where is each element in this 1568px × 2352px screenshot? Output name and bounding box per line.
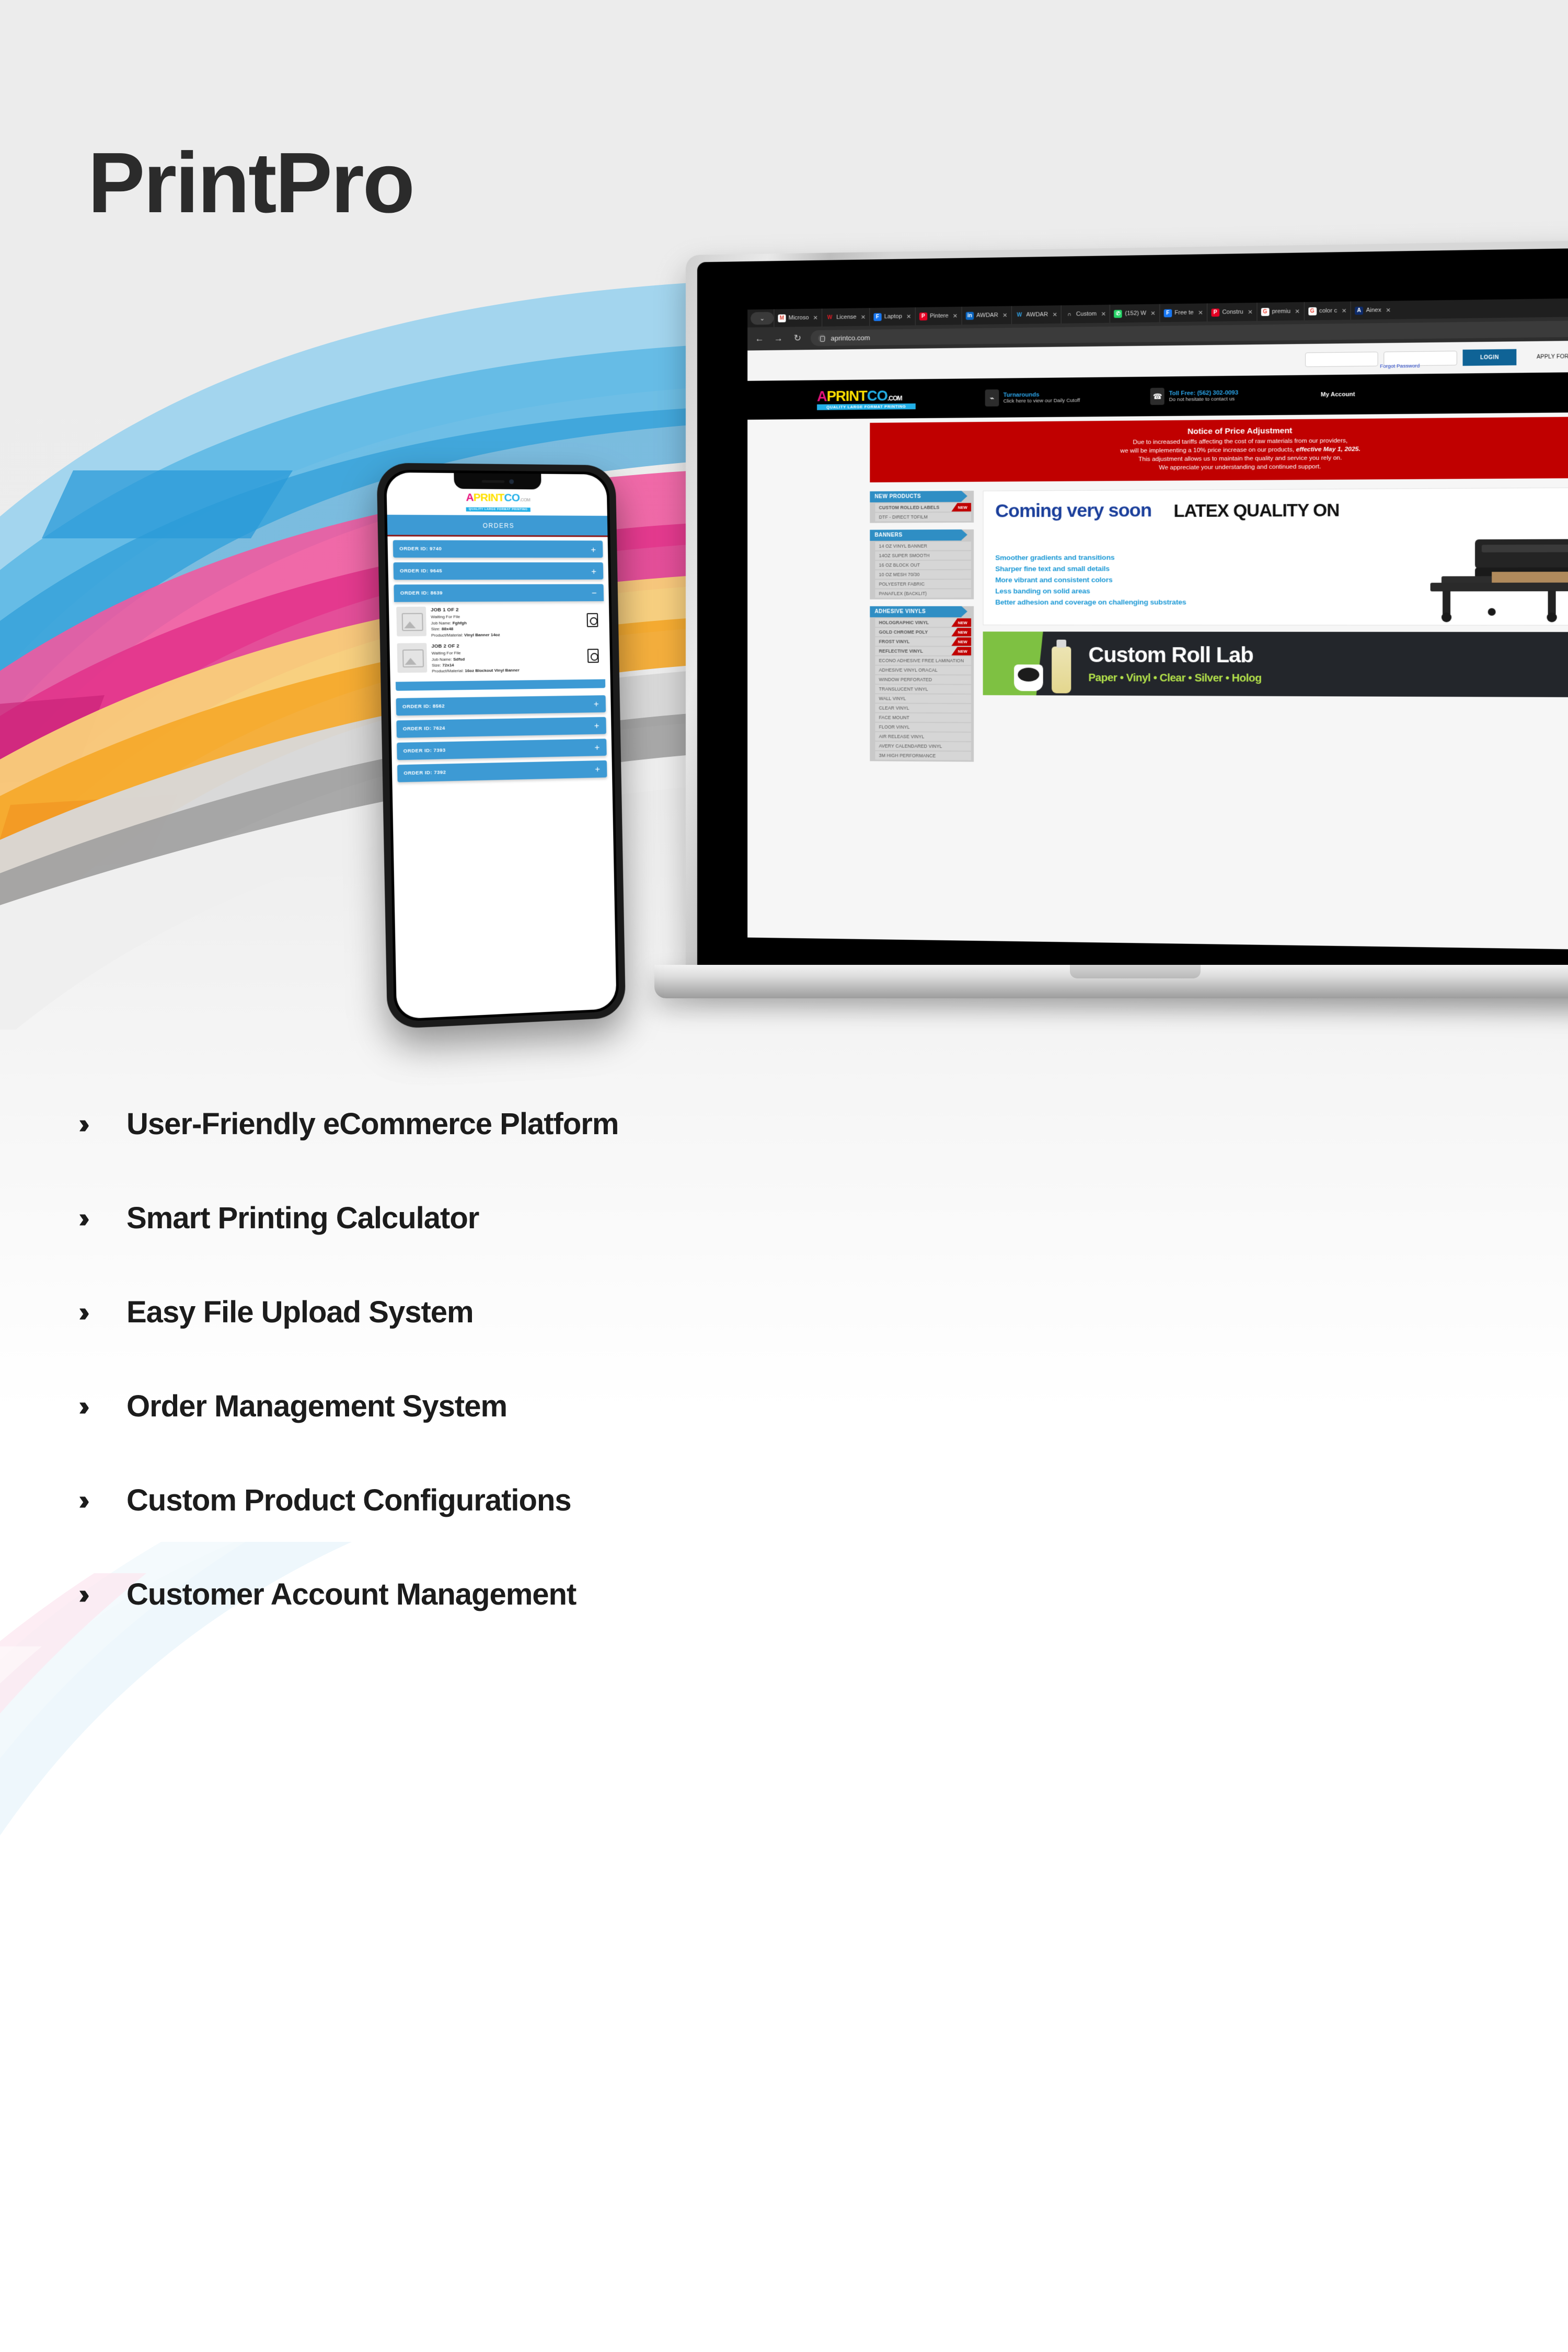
browser-tab-10[interactable]: Gpremiu✕ <box>1256 302 1304 321</box>
sidebar-item-label: 14 OZ VINYL BANNER <box>879 544 927 549</box>
job-item: JOB 1 OF 2Waiting For FileJob Name: Fghf… <box>396 606 601 638</box>
promo-bullet: Less banding on solid areas <box>995 586 1186 597</box>
sidebar-item-label: GOLD CHROME POLY <box>879 629 928 635</box>
sidebar-item-label: WALL VINYL <box>879 696 906 701</box>
truck-icon: ⌁ <box>985 389 999 407</box>
page-title: PrintPro <box>88 140 413 226</box>
job-name-label: Job Name: <box>432 657 452 662</box>
sidebar-item-label: AVERY CALENDARED VINYL <box>879 743 942 749</box>
job-size-row: Size: 88x48 <box>431 626 500 632</box>
logo-dotcom: .COM <box>887 394 902 401</box>
double-chevron-right-icon: ›› <box>78 1580 108 1608</box>
sidebar-item[interactable]: 10 OZ MESH 70/30 <box>875 570 971 579</box>
tollfree-sub: Do not hesitate to contact us <box>1169 396 1238 402</box>
tab-close-icon[interactable]: ✕ <box>1295 308 1300 315</box>
sidebar-item-label: CUSTOM ROLLED LABELS <box>879 505 940 511</box>
order-row[interactable]: ORDER ID: 8562+ <box>396 695 606 716</box>
order-row[interactable]: ORDER ID: 9645+ <box>394 562 604 580</box>
preview-document-icon[interactable] <box>587 649 599 663</box>
sidebar-item[interactable]: REFLECTIVE VINYLNEW <box>875 647 971 655</box>
coffee-cup-graphic <box>1014 664 1043 691</box>
phone-body: APRINTCO.COM QUALITY LARGE FORMAT PRINTI… <box>376 463 626 1029</box>
preview-document-icon[interactable] <box>587 613 598 627</box>
feature-label: Custom Product Configurations <box>126 1483 571 1518</box>
order-row[interactable]: ORDER ID: 8639− <box>394 584 604 602</box>
sidebar-item-label: DTF - DIRECT TOFILM <box>879 514 928 520</box>
sidebar-group-title: BANNERS <box>870 529 961 541</box>
sidebar-item[interactable]: 14 OZ VINYL BANNER <box>875 541 971 550</box>
tollfree-title: Toll Free: (562) 302-0093 <box>1169 389 1238 397</box>
feature-list: ››User-Friendly eCommerce Platform››Smar… <box>78 1077 1176 1641</box>
sidebar-item[interactable]: WALL VINYL <box>875 694 971 703</box>
double-chevron-right-icon: ›› <box>78 1486 108 1514</box>
feature-item-4: ››Custom Product Configurations <box>78 1453 1176 1547</box>
tab-label: premiu <box>1272 308 1290 315</box>
feature-label: User-Friendly eCommerce Platform <box>126 1106 618 1142</box>
browser-tab-5[interactable]: WAWDAR✕ <box>1011 305 1062 324</box>
job-thumbnail-image-icon <box>396 607 426 637</box>
sidebar-item-label: FACE MOUNT <box>879 715 909 720</box>
sidebar-item-label: WINDOW PERFORATED <box>879 677 932 682</box>
order-id-label: ORDER ID: 9740 <box>399 546 442 552</box>
job-size-value: 88x48 <box>442 627 454 631</box>
job-name-row: Job Name: Fghfgh <box>431 620 500 626</box>
sidebar-item[interactable]: FROST VINYLNEW <box>875 637 971 645</box>
tab-close-icon[interactable]: ✕ <box>813 314 818 321</box>
tab-list-icon[interactable]: ⌄ <box>751 312 774 325</box>
feature-label: Smart Printing Calculator <box>126 1201 479 1236</box>
notice-line-2a: we will be implementing a 10% price incr… <box>1120 446 1296 454</box>
order-row[interactable]: ORDER ID: 7393+ <box>397 739 607 760</box>
browser-tab-7[interactable]: ✆(152) W✕ <box>1110 304 1159 323</box>
tab-label: AWDAR <box>1026 312 1048 318</box>
site-settings-icon[interactable] <box>818 334 826 342</box>
tab-favicon-icon: G <box>1308 307 1317 315</box>
phone-inner-frame: APRINTCO.COM QUALITY LARGE FORMAT PRINTI… <box>384 470 619 1022</box>
job-size-label: Size: <box>432 663 441 667</box>
feature-label: Customer Account Management <box>126 1577 576 1612</box>
laptop-lid: ⌄ MMicroso✕WLicense✕FLaptop✕PPintere✕inA… <box>686 240 1568 991</box>
tab-favicon-icon: P <box>919 312 927 320</box>
tab-label: AWDAR <box>976 312 998 319</box>
feature-label: Order Management System <box>126 1389 507 1424</box>
sidebar-item-label: CLEAR VINYL <box>879 705 909 710</box>
order-id-label: ORDER ID: 9645 <box>400 568 442 574</box>
sidebar-item[interactable]: PANAFLEX (BACKLIT) <box>875 589 971 597</box>
sidebar-item[interactable]: CLEAR VINYL <box>875 704 971 712</box>
laptop-base-notch <box>1070 965 1201 978</box>
new-badge: NEW <box>951 618 971 627</box>
sidebar-group-title: NEW PRODUCTS <box>870 491 961 502</box>
promo-bullet: Better adhesion and coverage on challeng… <box>995 597 1186 608</box>
double-chevron-right-icon: ›› <box>78 1110 108 1138</box>
tab-close-icon[interactable]: ✕ <box>1002 312 1007 318</box>
expand-icon[interactable]: + <box>594 699 599 708</box>
promo-heading-blue: Coming very soon <box>995 500 1151 522</box>
tab-label: Pintere <box>930 313 949 319</box>
phone-logo-co: CO <box>504 492 520 504</box>
job-product-row: Product/Material: Vinyl Banner 14oz <box>431 632 500 638</box>
orders-list: ORDER ID: 9740+ORDER ID: 9645+ORDER ID: … <box>387 536 612 782</box>
tab-label: Laptop <box>884 313 902 320</box>
sidebar-item[interactable]: 3M HIGH PERFORMANCE <box>875 751 971 760</box>
browser-tab-1[interactable]: WLicense✕ <box>822 308 869 326</box>
url-text: aprintco.com <box>831 333 870 342</box>
order-id-label: ORDER ID: 7392 <box>403 769 446 776</box>
sidebar-item-label: 3M HIGH PERFORMANCE <box>879 753 936 758</box>
sidebar-item[interactable]: FACE MOUNT <box>875 713 971 722</box>
laptop-bezel: ⌄ MMicroso✕WLicense✕FLaptop✕PPintere✕inA… <box>697 248 1568 983</box>
job-size-value: 72x14 <box>442 663 454 667</box>
site-logo[interactable]: APRINTCO.COM QUALITY LARGE FORMAT PRINTI… <box>817 388 916 410</box>
tab-close-icon[interactable]: ✕ <box>1248 308 1253 315</box>
expand-icon[interactable]: + <box>591 567 596 575</box>
sidebar-item[interactable]: ECONO ADHESIVE FREE LAMINATION <box>875 656 971 665</box>
promo-heading-black: LATEX QUALITY ON <box>1173 500 1339 521</box>
apply-for-account-link[interactable]: APPLY FOR AN ACCOUNT <box>1537 353 1568 360</box>
sidebar-group-2: ADHESIVE VINYLSHOLOGRAPHIC VINYLNEWGOLD … <box>870 606 974 762</box>
printer-illustration <box>1408 536 1568 626</box>
logo-word-print: PRINT <box>827 388 867 404</box>
feature-item-1: ››Smart Printing Calculator <box>78 1171 1176 1265</box>
sidebar-item-label: 10 OZ MESH 70/30 <box>879 572 920 577</box>
sidebar-item[interactable]: ADHESIVE VINYL ORACAL <box>875 666 971 675</box>
job-name-value: Fghfgh <box>453 620 467 625</box>
sidebar-item-label: ADHESIVE VINYL ORACAL <box>879 667 938 673</box>
sidebar-item-label: ECONO ADHESIVE FREE LAMINATION <box>879 658 964 663</box>
sidebar-item[interactable]: FLOOR VINYL <box>875 723 971 732</box>
job-product-row: Product/Material: 16oz Blockout Vinyl Ba… <box>432 667 520 674</box>
reload-icon[interactable]: ↻ <box>792 333 803 343</box>
job-name-label: Job Name: <box>431 620 451 625</box>
order-row[interactable]: ORDER ID: 9740+ <box>393 540 603 558</box>
feature-label: Easy File Upload System <box>126 1295 474 1330</box>
order-id-label: ORDER ID: 8562 <box>402 703 445 709</box>
sidebar-item-label: 16 OZ BLOCK OUT <box>879 562 920 568</box>
tab-close-icon[interactable]: ✕ <box>953 313 958 319</box>
price-notice-banner: Notice of Price Adjustment Due to increa… <box>870 417 1568 483</box>
order-id-label: ORDER ID: 7624 <box>403 725 445 732</box>
promo-bullet: Sharper fine text and small details <box>995 563 1186 575</box>
job-name-value: Sdfsd <box>453 656 465 661</box>
new-badge: NEW <box>951 628 971 636</box>
phone-icon: ☎ <box>1150 388 1165 405</box>
tab-favicon-icon: ∩ <box>1065 310 1073 318</box>
new-badge: NEW <box>951 637 971 645</box>
job-size-label: Size: <box>431 627 441 631</box>
tab-favicon-icon: F <box>873 313 881 320</box>
roll-label-subtitle: Paper • Vinyl • Clear • Silver • Holog <box>1088 672 1261 685</box>
site-body: Notice of Price Adjustment Due to increa… <box>747 412 1568 950</box>
order-job-panel: JOB 1 OF 2Waiting For FileJob Name: Fghf… <box>394 601 605 682</box>
job-item: JOB 2 OF 2Waiting For FileJob Name: Sdfs… <box>397 641 602 675</box>
product-sidebar: NEW PRODUCTSCUSTOM ROLLED LABELSNEWDTF -… <box>870 491 974 769</box>
job-status: Waiting For File <box>431 614 500 620</box>
turnarounds-sub: Click here to view our Daily Cutoff <box>1004 397 1080 404</box>
browser-tab-3[interactable]: PPintere✕ <box>915 307 962 326</box>
tab-label: Ainex <box>1366 307 1381 314</box>
sidebar-item-label: HOLOGRAPHIC VINYL <box>879 620 929 625</box>
sidebar-group-1: BANNERS14 OZ VINYL BANNER14OZ SUPER SMOO… <box>870 529 974 599</box>
login-button[interactable]: LOGIN <box>1463 349 1517 366</box>
tab-label: Constru <box>1222 309 1243 316</box>
sidebar-item[interactable]: GOLD CHROME POLYNEW <box>875 628 971 636</box>
tab-favicon-icon: ✆ <box>1114 309 1123 317</box>
orders-header: ORDERS <box>387 515 608 537</box>
sidebar-item[interactable]: WINDOW PERFORATED <box>875 675 971 684</box>
sidebar-item-label: POLYESTER FABRIC <box>879 581 925 586</box>
order-id-label: ORDER ID: 8639 <box>400 590 443 596</box>
decorative-swoosh-pastel <box>0 1542 805 2352</box>
tab-close-icon[interactable]: ✕ <box>1198 309 1203 316</box>
tab-close-icon[interactable]: ✕ <box>906 313 911 320</box>
feature-item-0: ››User-Friendly eCommerce Platform <box>78 1077 1176 1171</box>
phone-logo-a: A <box>466 491 474 503</box>
laptop-mockup: ⌄ MMicroso✕WLicense✕FLaptop✕PPintere✕inA… <box>686 255 1568 997</box>
sidebar-item[interactable]: HOLOGRAPHIC VINYLNEW <box>875 618 971 627</box>
browser-tab-6[interactable]: ∩Custom✕ <box>1061 305 1110 324</box>
tab-label: color c <box>1319 307 1337 314</box>
sidebar-item[interactable]: 14OZ SUPER SMOOTH <box>875 551 971 560</box>
poster-root: PrintPro ⌄ MMicroso✕WLicense✕FLaptop✕PPi… <box>0 0 1568 2352</box>
sidebar-item-label: FROST VINYL <box>879 639 910 644</box>
browser-tab-2[interactable]: FLaptop✕ <box>869 307 915 326</box>
phone-notch <box>454 473 541 489</box>
tab-favicon-icon: W <box>826 314 834 321</box>
tab-label: Free te <box>1174 309 1193 316</box>
phone-mockup: APRINTCO.COM QUALITY LARGE FORMAT PRINTI… <box>376 463 626 1029</box>
back-icon[interactable]: ← <box>754 333 765 344</box>
sidebar-item-label: 14OZ SUPER SMOOTH <box>879 553 930 558</box>
browser-tab-12[interactable]: AAinex✕ <box>1351 301 1395 320</box>
tab-close-icon[interactable]: ✕ <box>1342 307 1347 315</box>
tab-close-icon[interactable]: ✕ <box>1386 306 1391 314</box>
tab-close-icon[interactable]: ✕ <box>1101 310 1106 317</box>
order-row[interactable]: ORDER ID: 7392+ <box>397 760 607 782</box>
tab-favicon-icon: M <box>778 314 786 322</box>
browser-tab-9[interactable]: PConstru✕ <box>1207 303 1256 321</box>
tab-label: Custom <box>1076 311 1097 318</box>
double-chevron-right-icon: ›› <box>78 1298 108 1326</box>
browser-tab-4[interactable]: inAWDAR✕ <box>961 306 1011 325</box>
header-link-turnarounds[interactable]: ⌁ Turnarounds Click here to view our Dai… <box>985 388 1080 406</box>
job-product-value: Vinyl Banner 14oz <box>464 632 500 638</box>
expand-icon[interactable]: + <box>594 743 599 752</box>
promo-bullet: Smoother gradients and transitions <box>995 552 1186 563</box>
bottle-graphic <box>1052 647 1071 694</box>
job-product-label: Product/Material: <box>431 632 463 638</box>
username-input[interactable] <box>1305 351 1378 366</box>
feature-item-3: ››Order Management System <box>78 1359 1176 1453</box>
logo-tagline: QUALITY LARGE FORMAT PRINTING <box>817 403 916 410</box>
logo-word-co: CO <box>867 388 887 404</box>
laptop-screen: ⌄ MMicroso✕WLicense✕FLaptop✕PPintere✕inA… <box>747 298 1568 950</box>
sidebar-item[interactable]: 16 OZ BLOCK OUT <box>875 561 971 570</box>
sidebar-item[interactable]: AIR RELEASE VINYL <box>875 732 971 741</box>
new-badge: NEW <box>951 647 971 655</box>
tab-close-icon[interactable]: ✕ <box>1150 309 1156 316</box>
tab-favicon-icon: in <box>966 312 974 319</box>
notice-line-2b: effective May 1, 2025. <box>1296 446 1361 453</box>
logo-letter-a: A <box>817 388 827 404</box>
order-id-label: ORDER ID: 7393 <box>403 747 446 754</box>
browser-tab-11[interactable]: Gcolor c✕ <box>1304 302 1350 320</box>
phone-screen: APRINTCO.COM QUALITY LARGE FORMAT PRINTI… <box>386 472 617 1019</box>
tab-close-icon[interactable]: ✕ <box>1052 311 1057 318</box>
double-chevron-right-icon: ›› <box>78 1392 108 1420</box>
header-link-phone[interactable]: ☎ Toll Free: (562) 302-0093 Do not hesit… <box>1150 387 1238 405</box>
forward-icon[interactable]: → <box>773 333 784 344</box>
tab-favicon-icon: W <box>1016 311 1023 319</box>
phone-logo-print: PRINT <box>474 491 504 503</box>
double-chevron-right-icon: ›› <box>78 1204 108 1232</box>
forgot-password-link[interactable]: Forgot Password <box>1380 363 1420 370</box>
sidebar-item[interactable]: TRANSLUCENT VINYL <box>875 685 971 694</box>
sidebar-item[interactable]: CUSTOM ROLLED LABELSNEW <box>875 503 971 512</box>
tab-favicon-icon: F <box>1164 309 1172 317</box>
sidebar-item-label: REFLECTIVE VINYL <box>879 649 923 654</box>
expand-icon[interactable]: + <box>591 545 596 554</box>
phone-logo-dotcom: .COM <box>520 497 530 502</box>
phone-logo-tagline: QUALITY LARGE FORMAT PRINTING <box>466 508 531 512</box>
sidebar-item[interactable]: AVERY CALENDARED VINYL <box>875 742 971 751</box>
tab-label: Microso <box>789 315 809 321</box>
tab-favicon-icon: P <box>1211 308 1219 317</box>
browser-tab-8[interactable]: FFree te✕ <box>1159 303 1207 322</box>
sidebar-item-label: AIR RELEASE VINYL <box>879 734 925 740</box>
tab-favicon-icon: G <box>1261 308 1269 316</box>
expand-icon[interactable]: + <box>595 765 600 774</box>
tab-label: (152) W <box>1125 310 1146 317</box>
job-title: JOB 2 OF 2 <box>431 642 519 650</box>
new-badge: NEW <box>951 503 971 511</box>
sidebar-item[interactable]: DTF - DIRECT TOFILM <box>875 513 971 522</box>
job-title: JOB 1 OF 2 <box>431 606 500 614</box>
my-account-link[interactable]: My Account <box>1321 391 1355 398</box>
tab-label: License <box>836 314 856 321</box>
sidebar-item-label: TRANSLUCENT VINYL <box>879 686 928 691</box>
job-product-label: Product/Material: <box>432 668 464 674</box>
job-thumbnail-image-icon <box>397 643 428 673</box>
sidebar-item[interactable]: POLYESTER FABRIC <box>875 580 971 588</box>
expand-icon[interactable]: + <box>594 721 599 730</box>
promo-bullet-list: Smoother gradients and transitionsSharpe… <box>995 552 1186 608</box>
roll-label-title: Custom Roll Lab <box>1088 643 1253 668</box>
laptop-base <box>654 965 1568 998</box>
browser-tab-0[interactable]: MMicroso✕ <box>774 308 821 327</box>
sidebar-group-0: NEW PRODUCTSCUSTOM ROLLED LABELSNEWDTF -… <box>870 491 974 523</box>
feature-item-5: ››Customer Account Management <box>78 1547 1176 1641</box>
sidebar-item-label: PANAFLEX (BACKLIT) <box>879 591 927 596</box>
sidebar-group-title: ADHESIVE VINYLS <box>870 606 961 617</box>
feature-item-2: ››Easy File Upload System <box>78 1265 1176 1359</box>
promo-banner[interactable]: Coming very soon LATEX QUALITY ON Smooth… <box>983 487 1568 626</box>
earpiece-speaker <box>482 480 505 482</box>
front-camera-icon <box>509 479 514 484</box>
tab-favicon-icon: A <box>1355 306 1363 315</box>
promo-bullet: More vibrant and consistent colors <box>995 574 1186 586</box>
job-product-value: 16oz Blockout Vinyl Banner <box>465 668 520 673</box>
roll-label-banner[interactable]: Custom Roll Lab Paper • Vinyl • Clear • … <box>983 631 1568 697</box>
tab-close-icon[interactable]: ✕ <box>861 314 866 320</box>
collapse-icon[interactable]: − <box>592 588 597 597</box>
order-row[interactable]: ORDER ID: 7624+ <box>396 717 606 738</box>
sidebar-item-label: FLOOR VINYL <box>879 724 910 730</box>
